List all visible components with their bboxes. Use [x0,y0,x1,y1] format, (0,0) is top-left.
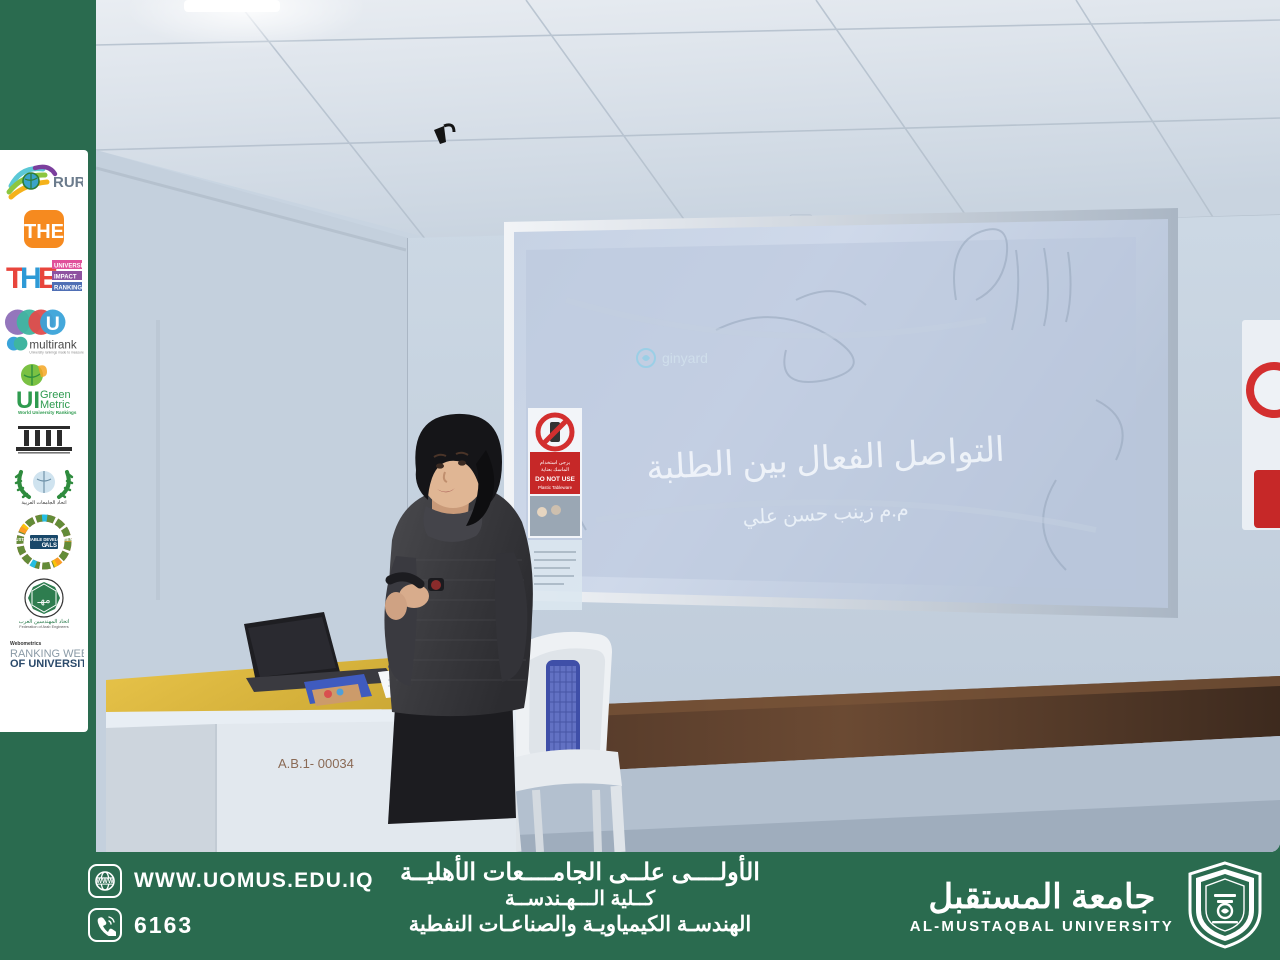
desk-marking: A.B.1- 00034 [278,756,354,771]
svg-text:RUR: RUR [53,174,83,191]
svg-text:SUSTAINABLE DEVELOPMENT: SUSTAINABLE DEVELOPMENT [14,537,74,542]
svg-text:WWW: WWW [97,879,114,885]
svg-text:ALS: ALS [45,543,57,549]
phone-ringing-icon [88,908,122,942]
classroom-lecture-photo: ginyard التواصل الفعال بين الطلبة م.م زي… [96,0,1280,852]
brand-english-name: AL-MUSTAQBAL UNIVERSITY [910,918,1174,935]
rankings-badge-strip: RUR THE T H E UNIVERSITY [0,150,88,732]
svg-text:University rankings made to me: University rankings made to measure [29,350,84,354]
footer-line-2: كــلية الـــهـندســة [300,887,860,912]
svg-text:مهـ: مهـ [37,595,51,606]
svg-text:OF UNIVERSITIES: OF UNIVERSITIES [10,658,84,670]
svg-text:اتحاد الجامعات العربية: اتحاد الجامعات العربية [21,500,66,506]
sign-do-not-use-text: DO NOT USE [535,476,576,483]
svg-text:Federation of Arab Engineers: Federation of Arab Engineers [19,625,68,629]
footer-bar: WWW WWW.UOMUS.EDU.IQ 6163 الأولــــى علـ… [0,852,1280,960]
university-brand-lockup: جامعة المستقبل AL-MUSTAQBAL UNIVERSITY [910,860,1266,955]
ui-greenmetric-badge: UI Green Metric World University Ranking… [4,362,84,416]
university-shield-logo [1184,860,1266,955]
wall-sign-do-not-use: يرجى استخدام الماسك بعناية DO NOT USE Pl… [528,408,582,610]
svg-text:Webometrics: Webometrics [10,641,42,647]
footer-line-3: الهندسـة الكيمياويـة والصناعـات النفطية [300,912,860,938]
svg-text:THE: THE [24,221,64,243]
footer-line-1: الأولــــى علــى الجامــــعات الأهليــة [300,858,860,887]
globe-www-icon: WWW [88,864,122,898]
association-arab-universities-badge: اتحاد الجامعات العربية [4,462,84,508]
left-green-rail: RUR THE T H E UNIVERSITY [0,0,96,960]
svg-text:IMPACT: IMPACT [54,275,77,281]
svg-text:Plastic Tableware: Plastic Tableware [538,485,573,490]
brand-text: جامعة المستقبل AL-MUSTAQBAL UNIVERSITY [910,880,1174,935]
federation-arab-engineers-badge: مهـ اتحاد المهندسين العرب Federation of … [4,576,84,630]
the-rankings-badge: THE [4,208,84,250]
rur-rankings-badge: RUR [4,160,84,202]
photo-scene: ginyard التواصل الفعال بين الطلبة م.م زي… [96,0,1280,852]
svg-text:ginyard: ginyard [662,350,708,366]
poster-root: RUR THE T H E UNIVERSITY [0,0,1280,960]
svg-text:U: U [46,313,60,335]
webometrics-badge: Webometrics RANKING WEB OF UNIVERSITIES [4,636,84,670]
svg-text:RANKINGS: RANKINGS [54,286,84,292]
svg-text:World University Rankings: World University Rankings [18,410,77,415]
footer-arabic-block: الأولــــى علــى الجامــــعات الأهليــة … [300,858,860,939]
svg-text:الماسك بعناية: الماسك بعناية [541,467,569,473]
sdg-goals-badge: SUSTAINABLE DEVELOPMENT G ALS [4,514,84,570]
columns-institution-badge [4,422,84,456]
brand-arabic-name: جامعة المستقبل [928,880,1155,914]
wall-sign-right [1242,320,1280,530]
svg-text:UNIVERSITY: UNIVERSITY [54,264,84,270]
whiteboard-projection-screen: ginyard التواصل الفعال بين الطلبة م.م زي… [504,208,1178,618]
phone-text: 6163 [134,912,193,939]
the-impact-rankings-badge: T H E UNIVERSITY IMPACT RANKINGS [4,256,84,296]
u-multirank-badge: U multirank University rankings made to … [4,302,84,356]
svg-text:يرجى استخدام: يرجى استخدام [540,460,571,466]
